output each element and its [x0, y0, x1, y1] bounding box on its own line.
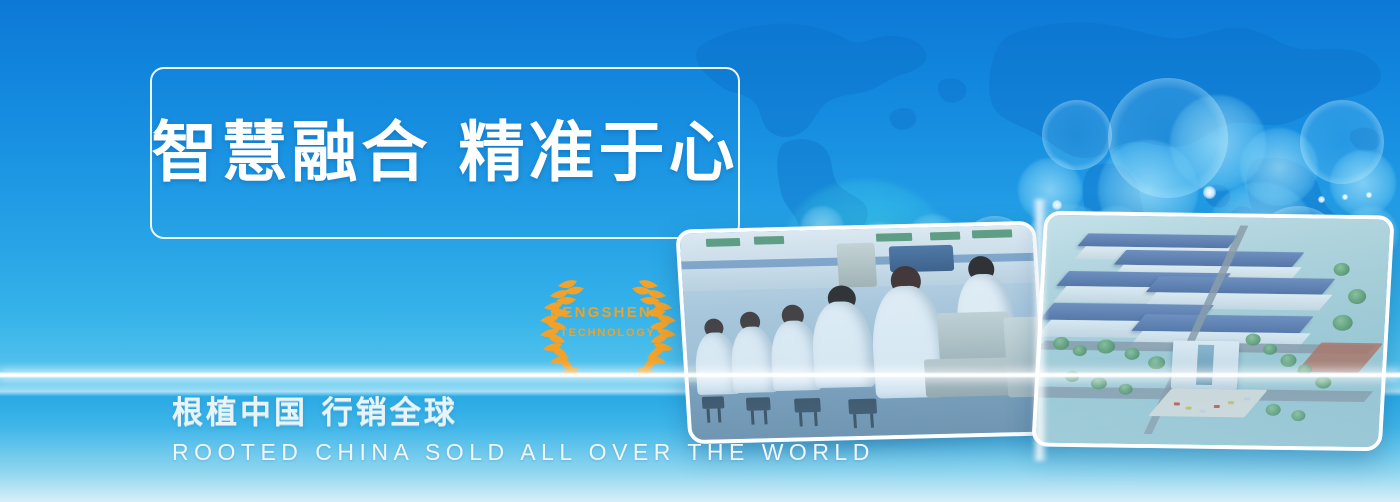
promo-banner: 智慧融合 精准于心: [0, 0, 1400, 502]
photo-factory-campus[interactable]: [1031, 211, 1394, 452]
photo-fold-highlight: [1032, 199, 1048, 461]
slogan-chinese: 根植中国 行销全球: [172, 396, 875, 432]
headline-box: 智慧融合 精准于心: [150, 67, 740, 239]
horizontal-divider: [0, 372, 1400, 378]
slogan-english: ROOTED CHINA SOLD ALL OVER THE WORLD: [172, 439, 875, 466]
slogan-block: 根植中国 行销全球 ROOTED CHINA SOLD ALL OVER THE…: [172, 396, 875, 466]
page-title: 智慧融合 精准于心: [152, 120, 739, 186]
